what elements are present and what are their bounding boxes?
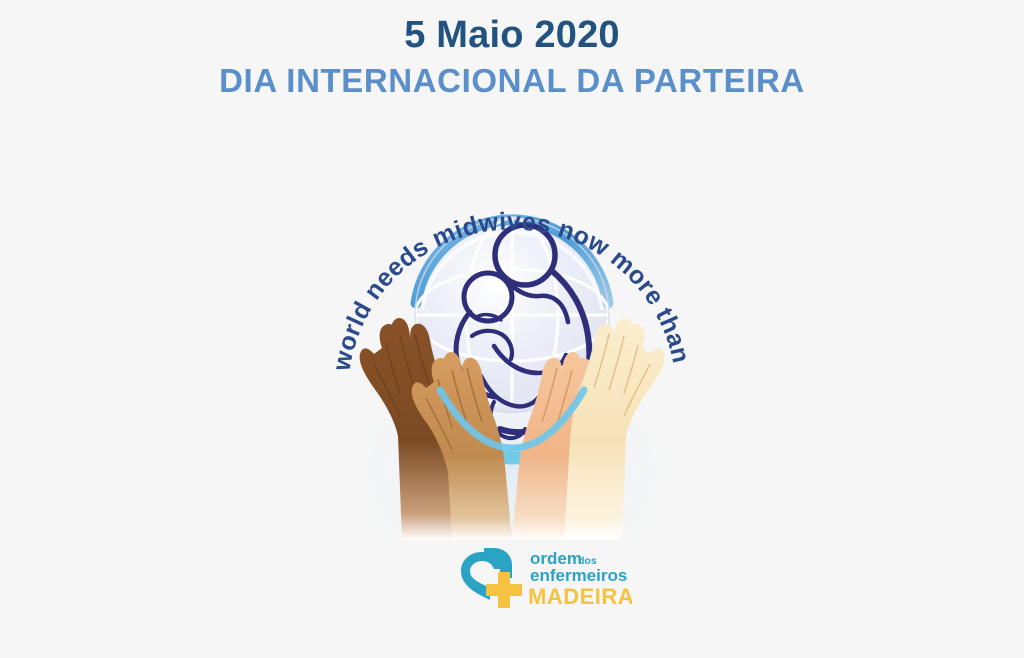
- org-logo-graphic: ordem dos enfermeiros MADEIRA: [452, 538, 632, 616]
- midwives-emblem: The world needs midwives now more than e…: [312, 140, 712, 540]
- emblem-graphic: The world needs midwives now more than e…: [312, 140, 712, 540]
- poster-heading: 5 Maio 2020 DIA INTERNACIONAL DA PARTEIR…: [0, 16, 1024, 99]
- page-title-date: 5 Maio 2020: [0, 16, 1024, 56]
- poster-canvas: 5 Maio 2020 DIA INTERNACIONAL DA PARTEIR…: [0, 0, 1024, 658]
- ordem-enfermeiros-madeira-logo: ordem dos enfermeiros MADEIRA: [452, 538, 632, 616]
- logo-line-madeira: MADEIRA: [528, 584, 632, 609]
- page-subtitle: DIA INTERNACIONAL DA PARTEIRA: [0, 64, 1024, 99]
- logo-line-enfermeiros: enfermeiros: [530, 566, 627, 585]
- plus-icon: [486, 572, 522, 608]
